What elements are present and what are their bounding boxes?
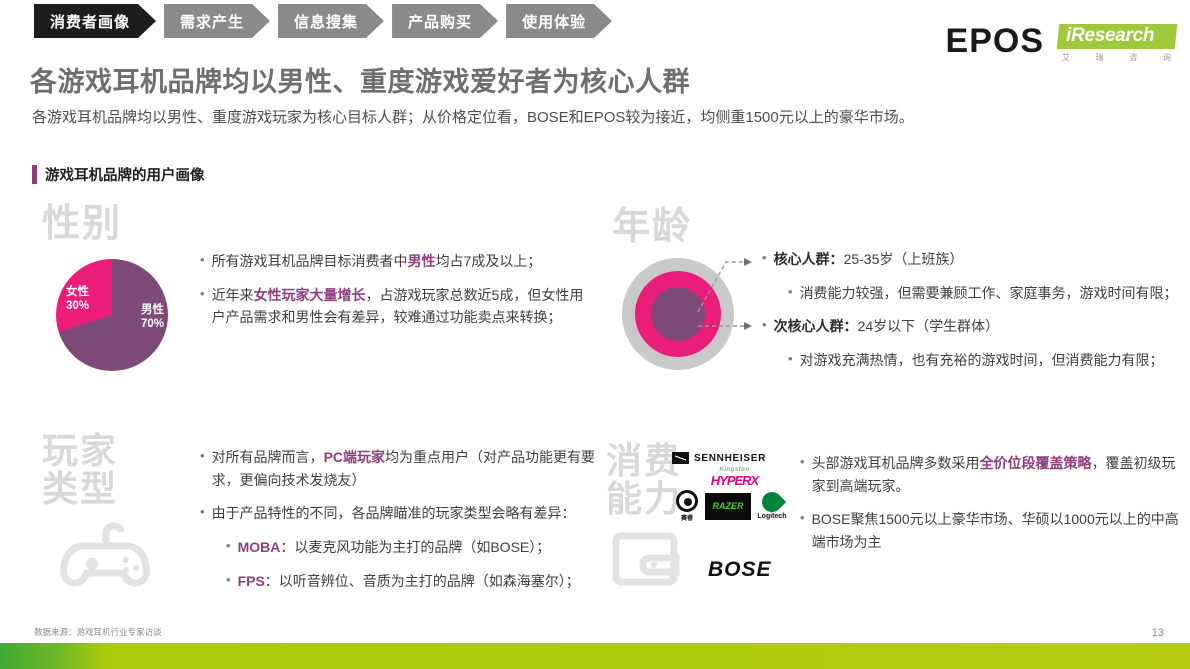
bullet-text: 对所有品牌而言，PC端玩家均为重点用户（对产品功能更有要求，更偏向技术发烧友） bbox=[212, 446, 600, 491]
bullet-dot-icon: • bbox=[200, 250, 205, 273]
bullet-dot-icon: • bbox=[200, 502, 205, 525]
pie-label-female: 女性 30% bbox=[66, 285, 89, 314]
bullet-dot-icon: • bbox=[762, 248, 767, 271]
bullet-dot-icon: • bbox=[762, 315, 767, 338]
bullet-dot-icon: • bbox=[200, 284, 205, 329]
bullet-text: 对游戏充满热情，也有充裕的游戏时间，但消费能力有限； bbox=[800, 349, 1182, 372]
brand-bose-label: BOSE bbox=[708, 558, 772, 582]
player-type-sep: ： bbox=[265, 573, 279, 589]
brand-logo-cluster: SENNHEISER Kingston HYPERX 赛睿 RAZER Logi… bbox=[672, 452, 797, 522]
iresearch-logo: iResearch 艾 瑞 咨 询 bbox=[1058, 24, 1176, 63]
iresearch-chinese-label: 艾 瑞 咨 询 bbox=[1058, 52, 1176, 63]
iresearch-logo-text: iResearch bbox=[1066, 26, 1168, 46]
gamepad-icon bbox=[50, 516, 160, 591]
list-item: • FPS：以听音辨位、音质为主打的品牌（如森海塞尔）； bbox=[226, 570, 600, 593]
bullet-text: MOBA：以麦克风功能为主打的品牌（如BOSE）； bbox=[238, 536, 600, 559]
bullet-text: 次核心人群：24岁以下（学生群体） bbox=[774, 315, 1182, 338]
list-item: • 头部游戏耳机品牌多数采用全价位段覆盖策略，覆盖初级玩家到高端玩家。 bbox=[800, 452, 1185, 497]
bullet-text: 由于产品特性的不同，各品牌瞄准的玩家类型会略有差异： bbox=[212, 502, 600, 525]
bullet-highlight: 女性玩家大量增长 bbox=[254, 287, 366, 303]
list-item: • 近年来女性玩家大量增长，占游戏玩家总数近5成，但女性用户产品需求和男性会有差… bbox=[200, 284, 585, 329]
nav-tab-3[interactable]: 产品购买 bbox=[392, 4, 498, 38]
nav-tab-0[interactable]: 消费者画像 bbox=[34, 4, 156, 38]
pie-label-female-name: 女性 bbox=[66, 286, 89, 298]
bullet-pre: 头部游戏耳机品牌多数采用 bbox=[812, 455, 980, 471]
bullet-dot-icon: • bbox=[226, 536, 231, 559]
page-title: 各游戏耳机品牌均以男性、重度游戏爱好者为核心人群 bbox=[30, 60, 930, 99]
list-item: • 由于产品特性的不同，各品牌瞄准的玩家类型会略有差异： bbox=[200, 502, 600, 525]
list-item: • 次核心人群：24岁以下（学生群体） bbox=[762, 315, 1182, 338]
iresearch-band: iResearch bbox=[1057, 24, 1178, 49]
player-type-bullet-list: • 对所有品牌而言，PC端玩家均为重点用户（对产品功能更有要求，更偏向技术发烧友… bbox=[200, 446, 600, 603]
bullet-highlight: 全价位段覆盖策略 bbox=[980, 455, 1092, 471]
nav-tab-label: 信息搜集 bbox=[294, 11, 358, 32]
bullet-text: 近年来女性玩家大量增长，占游戏玩家总数近5成，但女性用户产品需求和男性会有差异，… bbox=[212, 284, 585, 329]
player-type-tag: MOBA bbox=[238, 539, 281, 555]
player-type-tag: FPS bbox=[238, 573, 265, 589]
section-title: 游戏耳机品牌的用户画像 bbox=[45, 164, 205, 185]
bullet-text: 头部游戏耳机品牌多数采用全价位段覆盖策略，覆盖初级玩家到高端玩家。 bbox=[812, 452, 1185, 497]
sennheiser-label: SENNHEISER bbox=[694, 453, 766, 464]
section-accent-bar bbox=[32, 165, 37, 184]
logo-group: EPOS iResearch 艾 瑞 咨 询 bbox=[946, 24, 1176, 63]
list-item: • BOSE聚焦1500元以上豪华市场、华硕以1000元以上的中高端市场为主 bbox=[800, 508, 1185, 553]
bullet-dot-icon: • bbox=[200, 446, 205, 491]
sennheiser-mark-icon bbox=[672, 452, 689, 464]
bullet-dot-icon: • bbox=[800, 508, 805, 553]
page-number: 13 bbox=[1152, 627, 1164, 639]
bullet-dot-icon: • bbox=[788, 349, 793, 372]
nav-tab-1[interactable]: 需求产生 bbox=[164, 4, 270, 38]
bullet-text: 所有游戏耳机品牌目标消费者中男性均占7成及以上； bbox=[212, 250, 585, 273]
nav-tab-4[interactable]: 使用体验 bbox=[506, 4, 612, 38]
player-type-desc: 以麦克风功能为主打的品牌（如BOSE）； bbox=[294, 539, 550, 555]
brand-steelseries: 赛睿 bbox=[672, 490, 702, 522]
age-bullet-list: • 核心人群：25-35岁（上班族） • 消费能力较强，但需要兼顾工作、家庭事务… bbox=[762, 248, 1182, 383]
nav-tab-label: 需求产生 bbox=[180, 11, 244, 32]
brand-logitech: Logitech bbox=[754, 492, 790, 520]
list-item: • 核心人群：25-35岁（上班族） bbox=[762, 248, 1182, 271]
list-item: • 消费能力较强，但需要兼顾工作、家庭事务，游戏时间有限； bbox=[788, 282, 1182, 305]
slide-root: 消费者画像 需求产生 信息搜集 产品购买 使用体验 EPOS iResearch… bbox=[0, 0, 1190, 669]
section-header: 游戏耳机品牌的用户画像 bbox=[32, 164, 205, 185]
list-item: • 对游戏充满热情，也有充裕的游戏时间，但消费能力有限； bbox=[788, 349, 1182, 372]
player-type-sep: ： bbox=[280, 539, 294, 555]
bullet-pre: 对所有品牌而言， bbox=[212, 449, 324, 465]
ir-cn-2: 瑞 bbox=[1096, 52, 1105, 63]
bullet-highlight: PC端玩家 bbox=[324, 449, 385, 465]
hyperx-label: HYPERX bbox=[672, 473, 797, 488]
pie-label-female-value: 30% bbox=[66, 300, 89, 312]
nav-tab-label: 消费者画像 bbox=[50, 11, 130, 32]
nav-tab-label: 使用体验 bbox=[522, 11, 586, 32]
bullet-text: FPS：以听音辨位、音质为主打的品牌（如森海塞尔）； bbox=[238, 570, 600, 593]
breadcrumb: 消费者画像 需求产生 信息搜集 产品购买 使用体验 bbox=[34, 4, 620, 38]
nav-tab-label: 产品购买 bbox=[408, 11, 472, 32]
gender-ghost-label: 性别 bbox=[42, 205, 582, 245]
brand-sennheiser: SENNHEISER bbox=[672, 452, 797, 464]
bullet-text: 核心人群：25-35岁（上班族） bbox=[774, 248, 1182, 271]
nav-tab-2[interactable]: 信息搜集 bbox=[278, 4, 384, 38]
brand-razer: RAZER bbox=[705, 493, 751, 520]
consumption-bullet-list: • 头部游戏耳机品牌多数采用全价位段覆盖策略，覆盖初级玩家到高端玩家。 • BO… bbox=[800, 452, 1185, 565]
gender-pie-chart: 女性 30% 男性 70% bbox=[56, 259, 168, 371]
epos-logo: EPOS bbox=[946, 24, 1044, 58]
age-group-value: 24岁以下（学生群体） bbox=[858, 318, 1000, 334]
age-group-value: 25-35岁（上班族） bbox=[844, 251, 964, 267]
list-item: • MOBA：以麦克风功能为主打的品牌（如BOSE）； bbox=[226, 536, 600, 559]
footer-accent-bar bbox=[0, 643, 1190, 669]
ir-cn-1: 艾 bbox=[1062, 52, 1071, 63]
pie-label-male-value: 70% bbox=[141, 318, 164, 330]
bullet-text: 消费能力较强，但需要兼顾工作、家庭事务，游戏时间有限； bbox=[800, 282, 1182, 305]
bullet-text: BOSE聚焦1500元以上豪华市场、华硕以1000元以上的中高端市场为主 bbox=[812, 508, 1185, 553]
bullet-post: 均占7成及以上； bbox=[436, 253, 542, 269]
bullet-dot-icon: • bbox=[226, 570, 231, 593]
logitech-mark-icon bbox=[758, 488, 786, 516]
list-item: • 所有游戏耳机品牌目标消费者中男性均占7成及以上； bbox=[200, 250, 585, 273]
list-item: • 对所有品牌而言，PC端玩家均为重点用户（对产品功能更有要求，更偏向技术发烧友… bbox=[200, 446, 600, 491]
ir-cn-3: 咨 bbox=[1129, 52, 1138, 63]
brand-strip: 赛睿 RAZER Logitech bbox=[672, 490, 797, 522]
bullet-dot-icon: • bbox=[788, 282, 793, 305]
page-subtitle: 各游戏耳机品牌均以男性、重度游戏玩家为核心目标人群；从价格定位看，BOSE和EP… bbox=[32, 106, 1172, 129]
source-note: 数据来源：游戏耳机行业专家访谈 bbox=[34, 626, 162, 638]
wallet-icon bbox=[610, 528, 688, 590]
ir-cn-4: 询 bbox=[1163, 52, 1172, 63]
bullet-pre: 近年来 bbox=[212, 287, 254, 303]
bullet-dot-icon: • bbox=[800, 452, 805, 497]
age-group-title: 核心人群： bbox=[774, 251, 844, 267]
steelseries-mark-icon bbox=[676, 490, 698, 512]
age-group-title: 次核心人群： bbox=[774, 318, 858, 334]
bullet-pre: 所有游戏耳机品牌目标消费者中 bbox=[212, 253, 408, 269]
steelseries-cn-label: 赛睿 bbox=[672, 513, 702, 522]
bullet-highlight: 男性 bbox=[408, 253, 436, 269]
pie-label-male-name: 男性 bbox=[141, 304, 164, 316]
pie-label-male: 男性 70% bbox=[141, 303, 164, 332]
razer-label: RAZER bbox=[713, 501, 744, 511]
logitech-label: Logitech bbox=[754, 513, 790, 520]
player-type-desc: 以听音辨位、音质为主打的品牌（如森海塞尔）； bbox=[279, 573, 580, 589]
brand-hyperx: Kingston HYPERX bbox=[672, 467, 797, 488]
gender-bullet-list: • 所有游戏耳机品牌目标消费者中男性均占7成及以上； • 近年来女性玩家大量增长… bbox=[200, 250, 585, 340]
